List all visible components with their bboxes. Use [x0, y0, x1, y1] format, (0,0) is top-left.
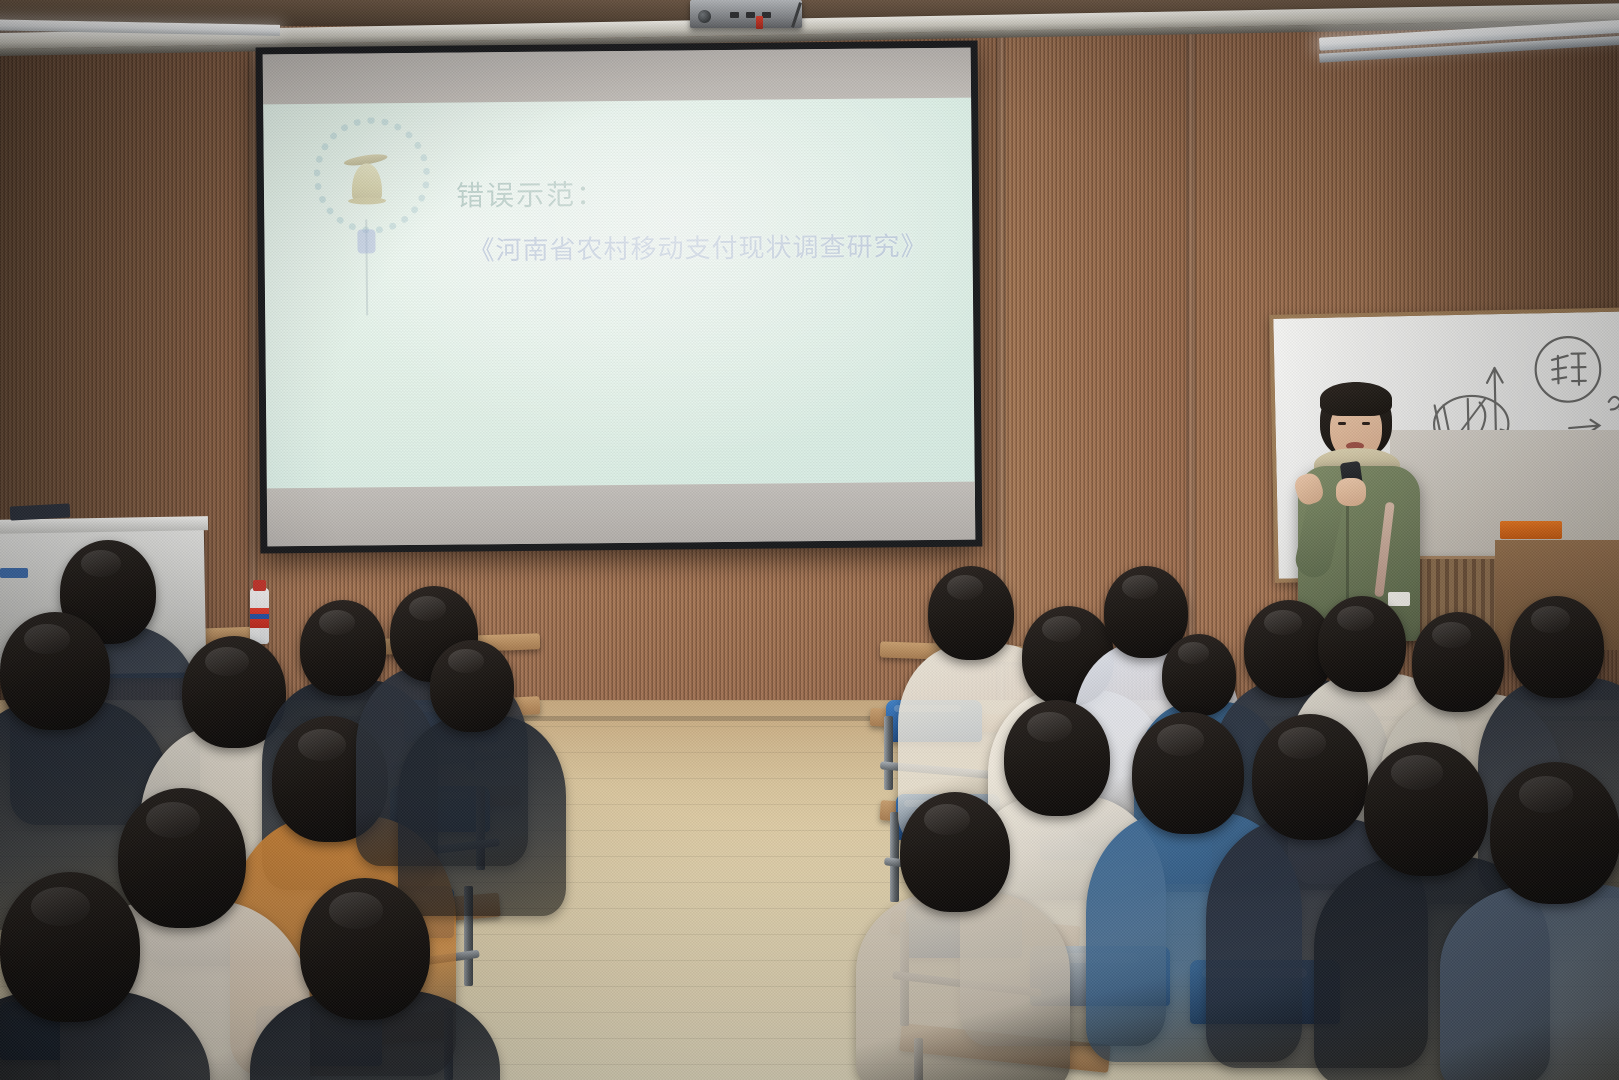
hair-highlight	[31, 887, 90, 926]
desk-leg	[884, 716, 893, 790]
projector-cable-red	[756, 16, 763, 29]
presenter-fringe	[1320, 382, 1392, 416]
bell-tag-icon	[357, 229, 375, 253]
hair-highlight	[319, 610, 355, 635]
hair-highlight	[947, 575, 983, 599]
presenter-eye	[1362, 422, 1370, 425]
student-head	[118, 788, 246, 928]
hair-highlight	[1519, 776, 1574, 813]
hair-highlight	[1042, 616, 1081, 642]
hair-highlight	[409, 596, 446, 621]
projector-port	[746, 12, 755, 18]
projector-port	[762, 12, 771, 18]
student-body	[1440, 884, 1619, 1080]
student-head	[430, 640, 514, 732]
student-head	[1162, 634, 1236, 716]
slide-subtitle: 《河南省农村移动支付现状调查研究》	[468, 226, 927, 267]
hair-highlight	[1122, 575, 1157, 599]
hair-highlight	[329, 892, 384, 929]
hair-highlight	[924, 804, 970, 835]
projected-slide: 错误示范： 《河南省农村移动支付现状调查研究》	[263, 98, 975, 505]
student-head	[1252, 714, 1368, 840]
projection-screen[interactable]: 错误示范： 《河南省农村移动支付现状调查研究》	[256, 41, 983, 554]
hair-highlight	[1337, 606, 1374, 631]
student-body	[856, 892, 1070, 1080]
projector-port	[730, 12, 739, 18]
hair-highlight	[24, 624, 70, 655]
hair-highlight	[1531, 606, 1570, 633]
bell-wreath-icon	[305, 111, 425, 322]
bottle-label-stripe	[250, 614, 269, 619]
hair-highlight	[1178, 642, 1209, 663]
hair-highlight	[1391, 755, 1443, 790]
student-head	[0, 612, 110, 730]
student-head	[1412, 612, 1504, 712]
slide-title: 错误示范：	[456, 173, 606, 214]
student-body	[398, 716, 566, 916]
hair-highlight	[1264, 610, 1302, 635]
screen-blank-top	[263, 48, 971, 107]
hair-highlight	[1157, 724, 1204, 756]
student-head	[300, 878, 430, 1020]
lectern-item	[0, 568, 28, 578]
bottle-cap	[253, 580, 266, 591]
student-head	[300, 600, 386, 696]
presenter-hand-holding-mic	[1336, 478, 1366, 506]
hair-highlight	[298, 729, 347, 762]
student-head	[1318, 596, 1406, 692]
projector-lens-icon	[698, 10, 711, 23]
hair-highlight	[146, 802, 200, 838]
student-head	[0, 872, 140, 1022]
hair-highlight	[1027, 712, 1072, 742]
hair-highlight	[81, 550, 121, 577]
student-head	[1004, 700, 1110, 816]
student-head	[1132, 712, 1244, 834]
presenter-badge	[1388, 592, 1410, 606]
screen-blank-bottom	[267, 482, 976, 547]
student-head	[1510, 596, 1604, 698]
ceiling-projector	[690, 0, 802, 28]
classroom-photo-scene: 错误示范： 《河南省农村移动支付现状调查研究》	[0, 0, 1619, 1080]
student-head	[900, 792, 1010, 912]
hair-highlight	[1278, 727, 1327, 760]
projection-screen-surface: 错误示范： 《河南省农村移动支付现状调查研究》	[263, 48, 976, 547]
student-head	[928, 566, 1014, 660]
orange-box-on-counter	[1500, 521, 1562, 539]
student-head	[1364, 742, 1488, 876]
presenter-eye	[1338, 422, 1346, 425]
student-head	[1490, 762, 1619, 904]
hair-highlight	[448, 649, 483, 673]
hair-highlight	[1432, 622, 1471, 648]
hair-highlight	[205, 647, 249, 676]
